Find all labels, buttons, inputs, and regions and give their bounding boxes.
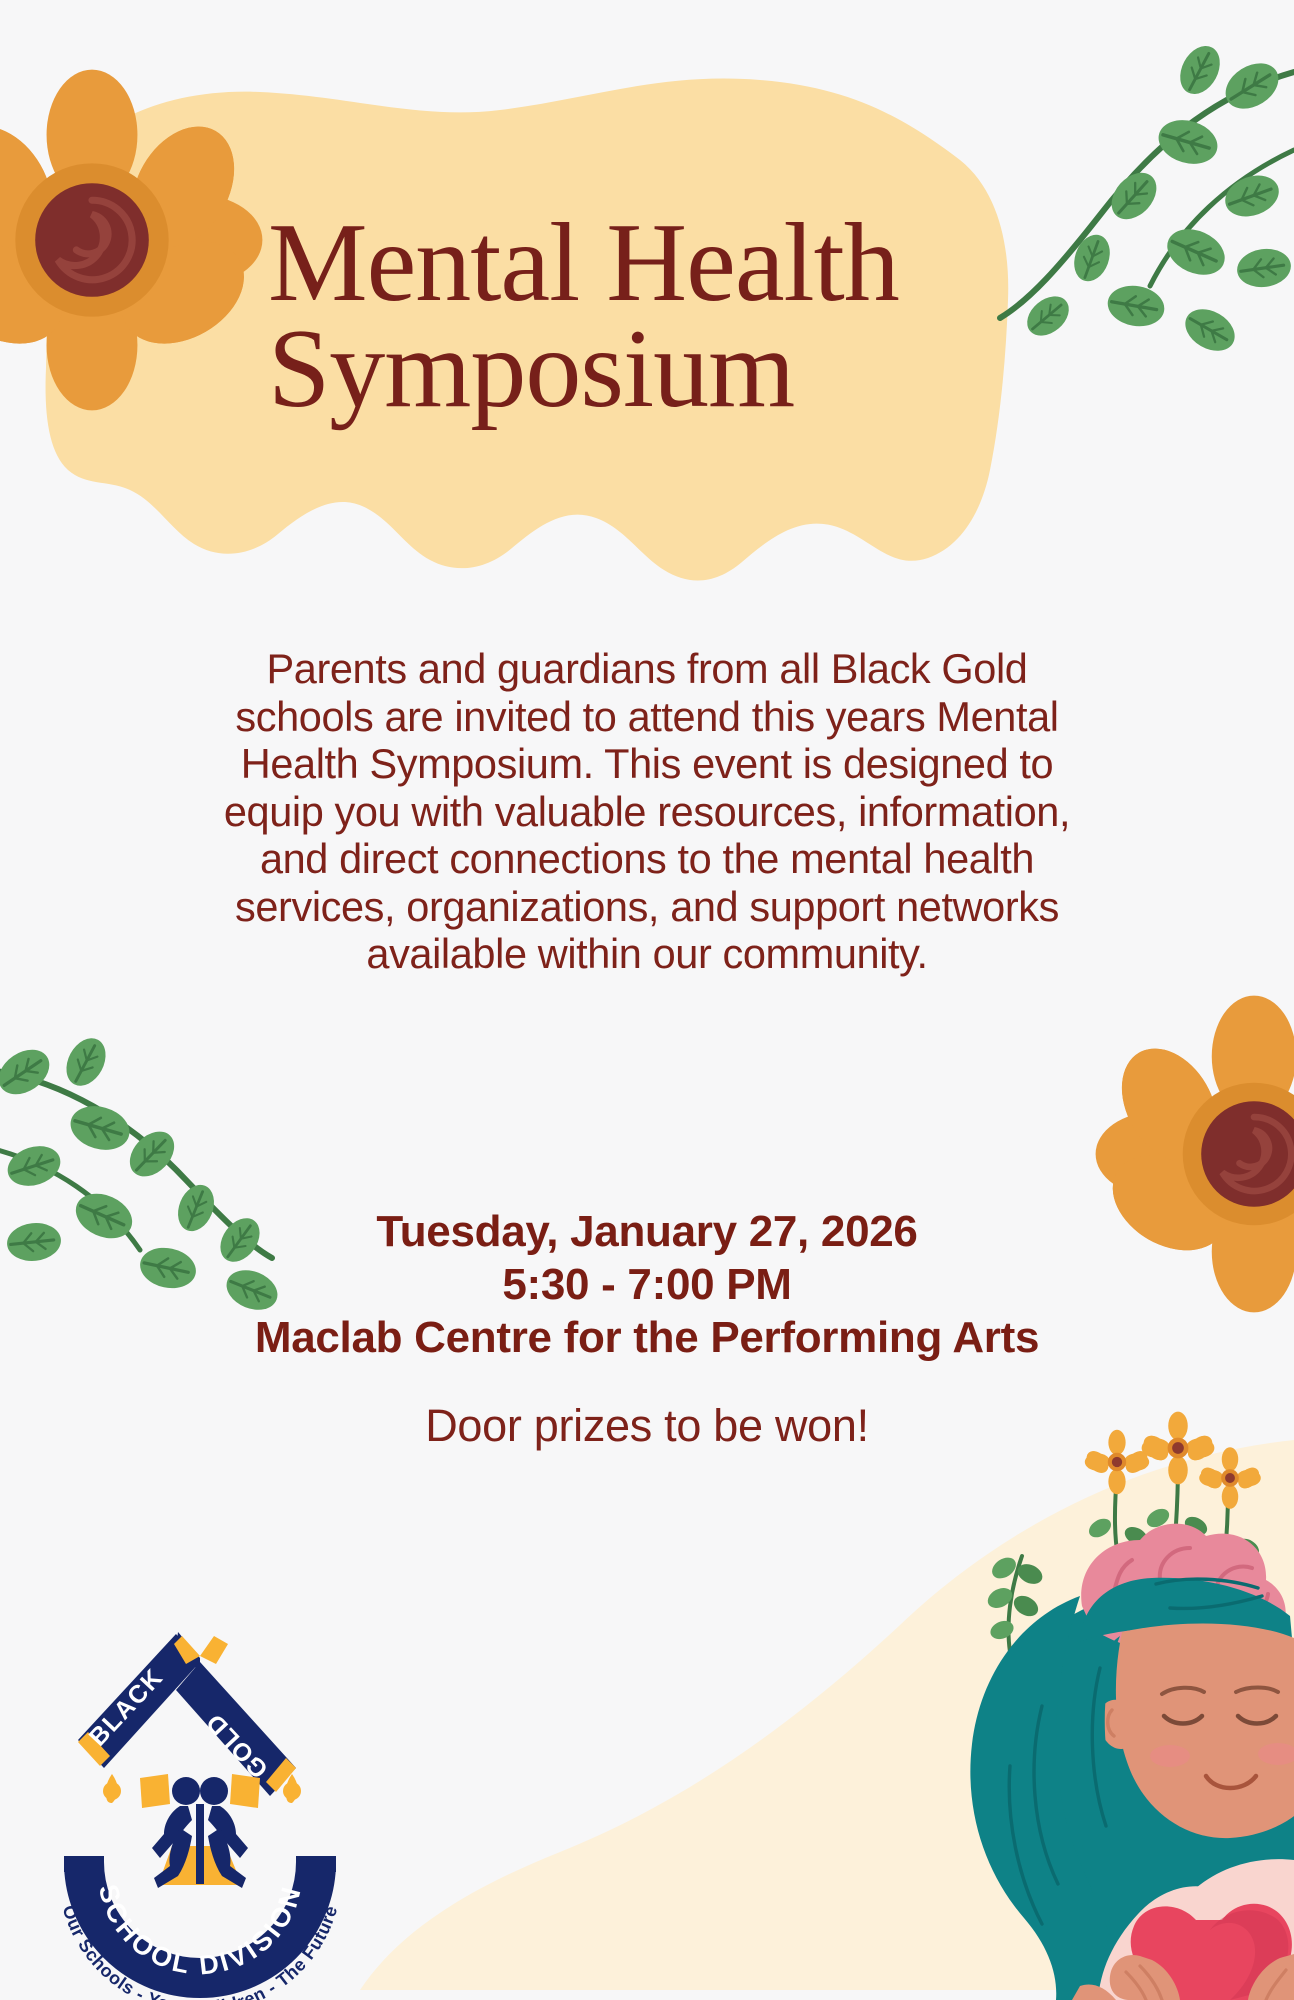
foliage-top-right-icon: [1000, 39, 1294, 359]
foliage-left-middle-icon: [0, 1031, 283, 1317]
logo-flag-right: [230, 1774, 260, 1808]
logo-gold-tip-right: [200, 1636, 228, 1664]
poster-canvas: Mental Health Symposium Parents and guar…: [0, 0, 1294, 2000]
logo-arc-cap-right: [296, 1856, 336, 1872]
flower-right-middle-icon: [1096, 996, 1294, 1313]
logo-flag-left: [140, 1774, 170, 1808]
woman-with-heart-illustration: [970, 1412, 1294, 2000]
logo-arc-cap-left: [64, 1856, 104, 1872]
flower-top-left-icon: [0, 70, 262, 411]
black-gold-school-division-logo: BLACK GOLD: [59, 1632, 342, 2000]
cheek-left: [1150, 1745, 1190, 1767]
foreground-decoration-layer: BLACK GOLD: [0, 0, 1294, 2000]
crown-flower-1-icon: [1082, 1430, 1151, 1494]
